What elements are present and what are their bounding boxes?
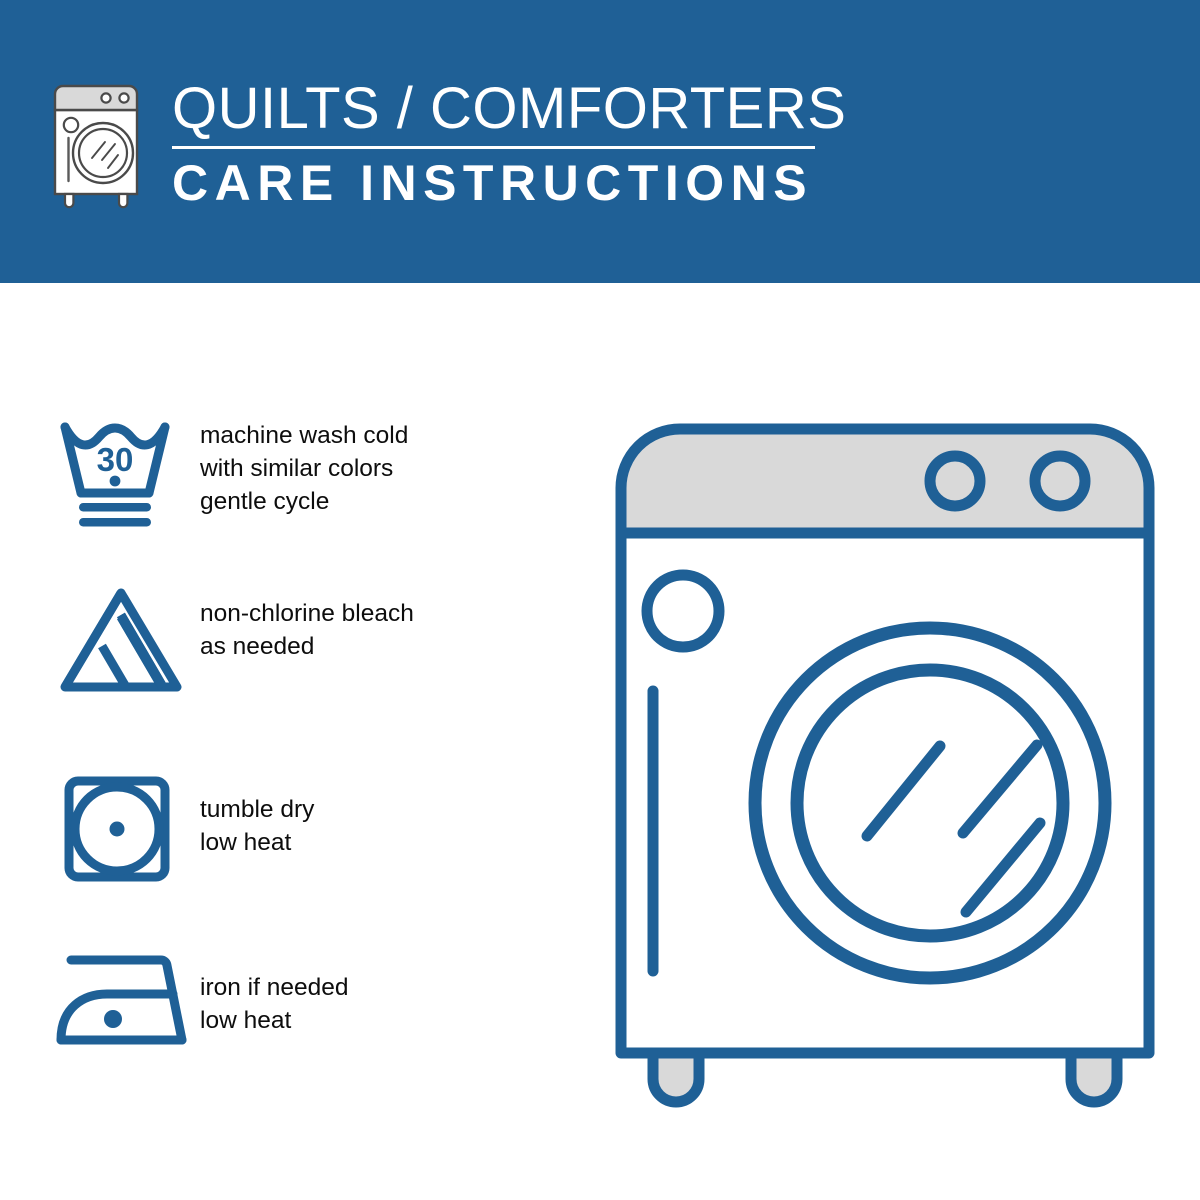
care-row: iron if needed low heat	[55, 948, 348, 1053]
care-label: tumble dry low heat	[200, 773, 314, 859]
iron-heat-dot	[104, 1010, 122, 1028]
iron-low-heat-icon	[55, 948, 195, 1053]
care-row: 30 machine wash cold with similar colors…	[55, 413, 408, 531]
page-subtitle: CARE INSTRUCTIONS	[172, 155, 846, 211]
non-chlorine-bleach-triangle-icon	[55, 583, 187, 698]
care-icon-slot	[55, 583, 200, 698]
machine-foot	[1071, 1053, 1117, 1102]
header-title-group: QUILTS / COMFORTERS CARE INSTRUCTIONS	[172, 78, 846, 211]
machine-foot	[653, 1053, 699, 1102]
care-label: iron if needed low heat	[200, 948, 348, 1037]
care-label: machine wash cold with similar colors ge…	[200, 413, 408, 518]
door-inner-glass	[797, 670, 1063, 936]
tumble-dry-low-icon	[55, 773, 187, 885]
care-row: non-chlorine bleach as needed	[55, 583, 414, 698]
indicator-light	[647, 575, 719, 647]
header-content: QUILTS / COMFORTERS CARE INSTRUCTIONS	[48, 78, 846, 212]
header-banner: QUILTS / COMFORTERS CARE INSTRUCTIONS	[0, 0, 1200, 283]
wash-dot	[110, 476, 121, 487]
page-title: QUILTS / COMFORTERS	[172, 78, 846, 140]
care-icon-slot	[55, 948, 200, 1053]
wash-tub-30-gentle-icon: 30	[55, 413, 187, 531]
wash-temperature-label: 30	[97, 441, 134, 478]
control-knob[interactable]	[930, 456, 980, 506]
front-load-washing-machine-illustration	[585, 393, 1185, 1113]
title-divider	[172, 146, 815, 149]
care-row: tumble dry low heat	[55, 773, 314, 885]
care-label: non-chlorine bleach as needed	[200, 583, 414, 663]
care-icon-slot: 30	[55, 413, 200, 531]
dryer-heat-dot	[110, 822, 125, 837]
care-icon-slot	[55, 773, 200, 885]
control-knob[interactable]	[1035, 456, 1085, 506]
care-instruction-list: 30 machine wash cold with similar colors…	[0, 283, 560, 1200]
content-area: 30 machine wash cold with similar colors…	[0, 283, 1200, 1200]
washing-machine-icon	[48, 80, 154, 212]
